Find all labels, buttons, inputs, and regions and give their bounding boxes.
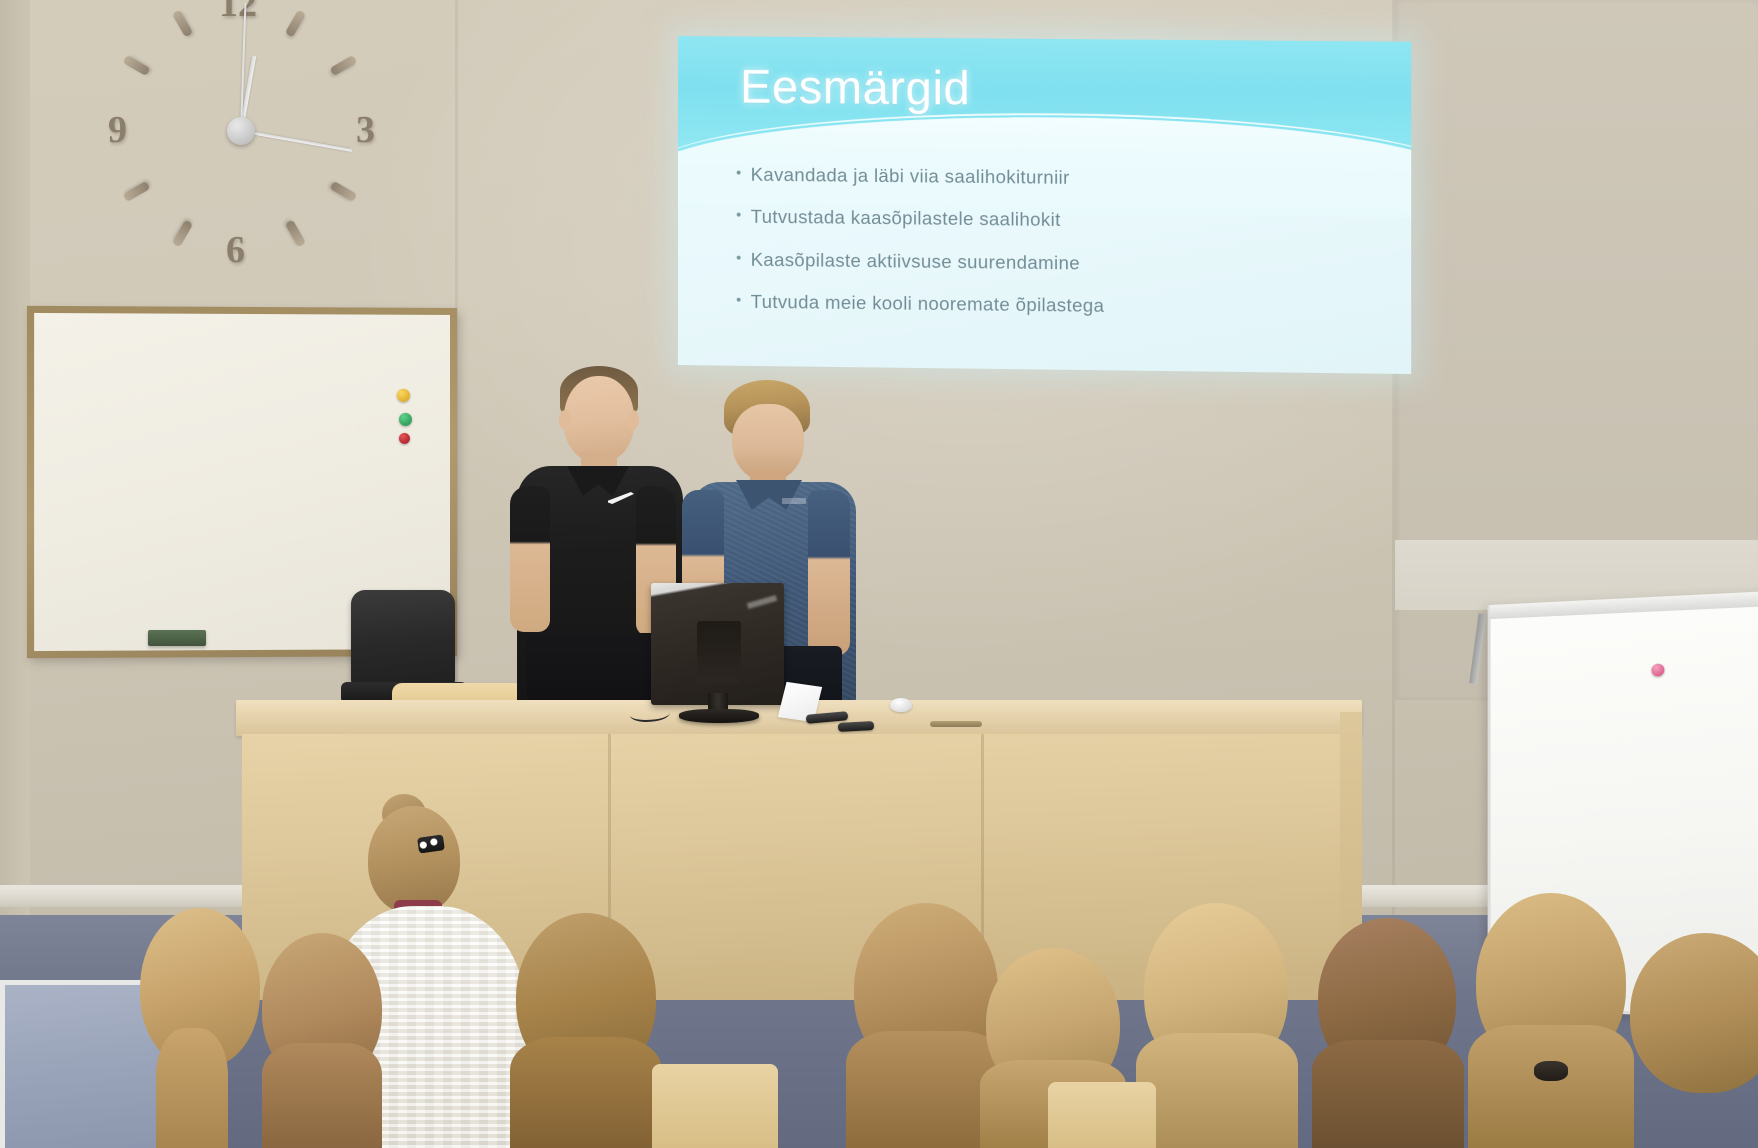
bullet-marker-icon: • [736, 165, 742, 184]
audience-hair-lower [510, 1037, 662, 1148]
slide-bullet-text: Kavandada ja läbi viia saalihokiturniir [751, 165, 1070, 189]
monitor-highlight [747, 595, 777, 609]
audience-hair-lower [1312, 1040, 1464, 1148]
monitor-vesa-mount [697, 621, 741, 683]
presenter-right-arm [808, 490, 850, 656]
clock-numeral-9: 9 [108, 108, 127, 152]
desk-cable-grommet [930, 721, 982, 727]
magnet-red [399, 433, 410, 444]
marker-pen [838, 721, 874, 732]
computer-monitor [651, 583, 784, 726]
clock-marker-11 [172, 10, 193, 38]
presenter-left-head [564, 376, 634, 462]
clock-marker-1 [285, 10, 306, 38]
clock-marker-5 [285, 220, 306, 248]
flipchart-arm [1469, 613, 1486, 684]
office-chair-back [351, 590, 455, 686]
audience-head-7 [1300, 918, 1475, 1148]
slide-bullet-text: Kaasõpilaste aktiivsuse suurendamine [751, 249, 1080, 273]
presenter-right-shirt-pocket [782, 498, 806, 504]
bullet-marker-icon: • [736, 292, 742, 311]
clock-marker-8 [123, 181, 151, 202]
audience-head-3 [500, 913, 675, 1148]
magnet-yellow [397, 389, 410, 402]
projected-slide: Eesmärgid • Kavandada ja läbi viia saali… [678, 36, 1411, 374]
presenter-left-ear [627, 410, 639, 430]
clock-numeral-3: 3 [356, 108, 375, 152]
audience-chair-back [652, 1064, 778, 1148]
hair-tie-icon [1534, 1061, 1568, 1081]
audience-hair-lower [262, 1043, 382, 1148]
clock-marker-7 [172, 220, 193, 248]
slide-bullet-list: • Kavandada ja läbi viia saalihokiturnii… [736, 165, 1383, 342]
slide-bullet-text: Tutvustada kaasõpilastele saalihokit [751, 207, 1061, 231]
audience-chair-back [1048, 1082, 1156, 1148]
clock-marker-10 [123, 55, 151, 76]
clock-minute-hand [241, 130, 352, 152]
audience-head-2 [248, 933, 398, 1148]
clock-marker-4 [330, 181, 358, 202]
clock-numeral-12: 12 [219, 0, 257, 26]
slide-title: Eesmärgid [740, 59, 970, 116]
classroom-photo: 12 3 6 9 Eesmärgid • Kavandada ja läbi v… [0, 0, 1758, 1148]
whiteboard-marker-tray [148, 630, 206, 646]
slide-bullet-text: Tutvuda meie kooli nooremate õpilastega [751, 292, 1105, 316]
audience-hair-lower [1136, 1033, 1298, 1148]
audience-head-9 [1620, 933, 1758, 1148]
presenter-left-arm [510, 486, 550, 632]
wall-clock: 12 3 6 9 [96, 0, 386, 276]
slide-bullet-item: • Kaasõpilaste aktiivsuse suurendamine [736, 249, 1383, 277]
clock-numeral-6: 6 [226, 228, 245, 272]
left-wall-column [0, 0, 30, 940]
slide-bullet-item: • Tutvuda meie kooli nooremate õpilasteg… [736, 292, 1383, 320]
presenter-left-ear [559, 410, 571, 430]
clock-center-hub [227, 117, 255, 145]
magnet-green [399, 413, 412, 426]
computer-mouse [890, 698, 912, 712]
bullet-marker-icon: • [736, 207, 742, 226]
clock-marker-2 [330, 55, 358, 76]
monitor-stand-base [679, 709, 759, 723]
audience-head [368, 806, 460, 914]
audience-hair-lower [1468, 1025, 1634, 1148]
audience-hair [1630, 933, 1758, 1093]
slide-bullet-item: • Tutvustada kaasõpilastele saalihokit [736, 207, 1383, 234]
bullet-marker-icon: • [736, 249, 742, 268]
audience-ponytail [156, 1028, 228, 1148]
